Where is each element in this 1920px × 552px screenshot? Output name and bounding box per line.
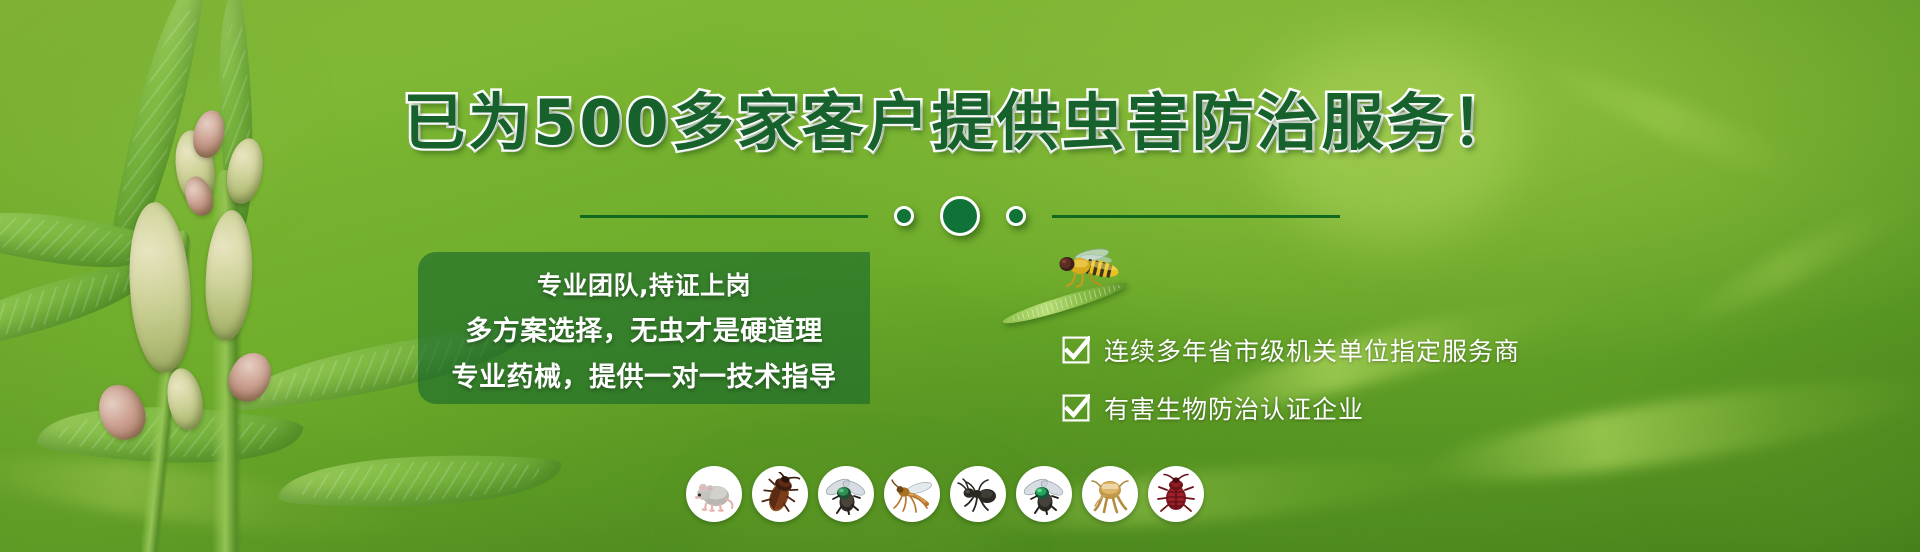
blowfly-icon xyxy=(1022,472,1066,516)
feature-label: 连续多年省市级机关单位指定服务商 xyxy=(1104,332,1520,368)
plant-leaf xyxy=(278,440,562,521)
divider-line-right xyxy=(1052,215,1340,218)
feature-label: 有害生物防治认证企业 xyxy=(1104,390,1364,426)
bedbug-icon xyxy=(1154,472,1198,516)
pest-icon-mosquito[interactable] xyxy=(884,466,940,522)
hoverfly-icon xyxy=(1058,246,1122,288)
feature-item: 连续多年省市级机关单位指定服务商 xyxy=(1062,332,1520,368)
promo-banner: 已为500多家客户提供虫害防治服务！ 专业团队,持证上岗 多方案选择，无虫才是硬… xyxy=(0,0,1920,552)
feature-list: 连续多年省市级机关单位指定服务商 有害生物防治认证企业 xyxy=(1062,332,1520,426)
pest-icon-bedbug[interactable] xyxy=(1148,466,1204,522)
pest-icon-row xyxy=(686,466,1204,522)
pest-icon-rat[interactable] xyxy=(686,466,742,522)
slogan-line-2: 多方案选择，无虫才是硬道理 xyxy=(436,309,852,348)
pest-icon-cockroach[interactable] xyxy=(752,466,808,522)
plant-bud xyxy=(203,209,256,341)
flea-icon xyxy=(1088,472,1132,516)
checkbox-checked-icon xyxy=(1062,336,1090,364)
divider-dot-large xyxy=(940,196,980,236)
slogan-line-3: 专业药械，提供一对一技术指导 xyxy=(436,355,852,394)
plant-bud xyxy=(124,200,196,374)
rat-icon xyxy=(692,472,736,516)
mosquito-icon xyxy=(890,472,934,516)
divider-dot-small-left xyxy=(894,206,914,226)
divider-dot-small-right xyxy=(1006,206,1026,226)
slogan-line-1: 专业团队,持证上岗 xyxy=(436,266,852,302)
decorative-divider xyxy=(580,196,1340,236)
cockroach-icon xyxy=(758,472,802,516)
ant-icon xyxy=(956,472,1000,516)
fly-icon xyxy=(824,472,868,516)
pest-icon-fly[interactable] xyxy=(818,466,874,522)
pest-icon-blowfly[interactable] xyxy=(1016,466,1072,522)
checkbox-checked-icon xyxy=(1062,394,1090,422)
pest-icon-ant[interactable] xyxy=(950,466,1006,522)
pest-icon-flea[interactable] xyxy=(1082,466,1138,522)
divider-line-left xyxy=(580,215,868,218)
feature-item: 有害生物防治认证企业 xyxy=(1062,390,1520,426)
hoverfly-scene xyxy=(1000,240,1140,330)
slogan-panel: 专业团队,持证上岗 多方案选择，无虫才是硬道理 专业药械，提供一对一技术指导 xyxy=(418,252,870,404)
banner-headline: 已为500多家客户提供虫害防治服务！ xyxy=(0,72,1920,162)
